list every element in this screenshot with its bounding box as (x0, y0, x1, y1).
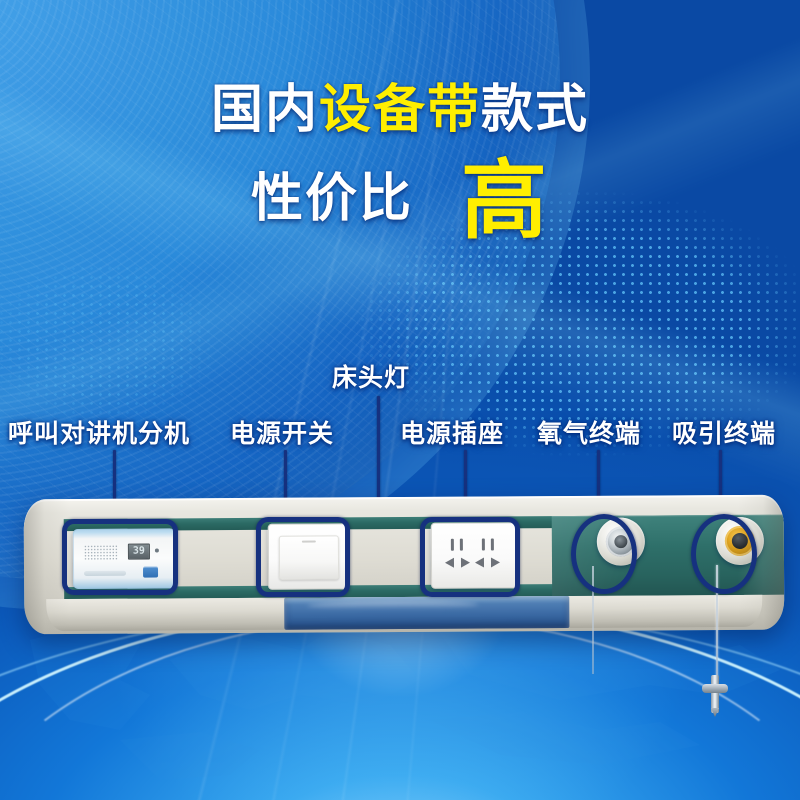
highlight-box-suction (691, 514, 757, 594)
callout-label-socket: 电源插座 (400, 414, 504, 450)
callout-label-suction: 吸引终端 (672, 414, 776, 450)
highlight-box-socket (420, 517, 520, 597)
hose-connector-plug (702, 675, 728, 713)
highlight-box-intercom (62, 519, 178, 595)
light-sweep (0, 0, 800, 800)
callout-label-power-switch: 电源开关 (230, 414, 334, 450)
plug-body (711, 675, 719, 713)
callout-label-intercom: 呼叫对讲机分机 (8, 414, 190, 450)
callout-label-bed-light: 床头灯 (332, 358, 410, 394)
plug-wing (702, 684, 728, 693)
callout-label-oxygen: 氧气终端 (537, 414, 641, 450)
bed-head-light[interactable] (284, 596, 569, 630)
highlight-box-power-switch (256, 517, 350, 597)
highlight-box-oxygen (571, 514, 637, 594)
product-banner: 国内设备带款式 性价比高 呼叫对讲机分机 电源开关 床头灯 电源插座 氧气终端 … (0, 0, 800, 800)
